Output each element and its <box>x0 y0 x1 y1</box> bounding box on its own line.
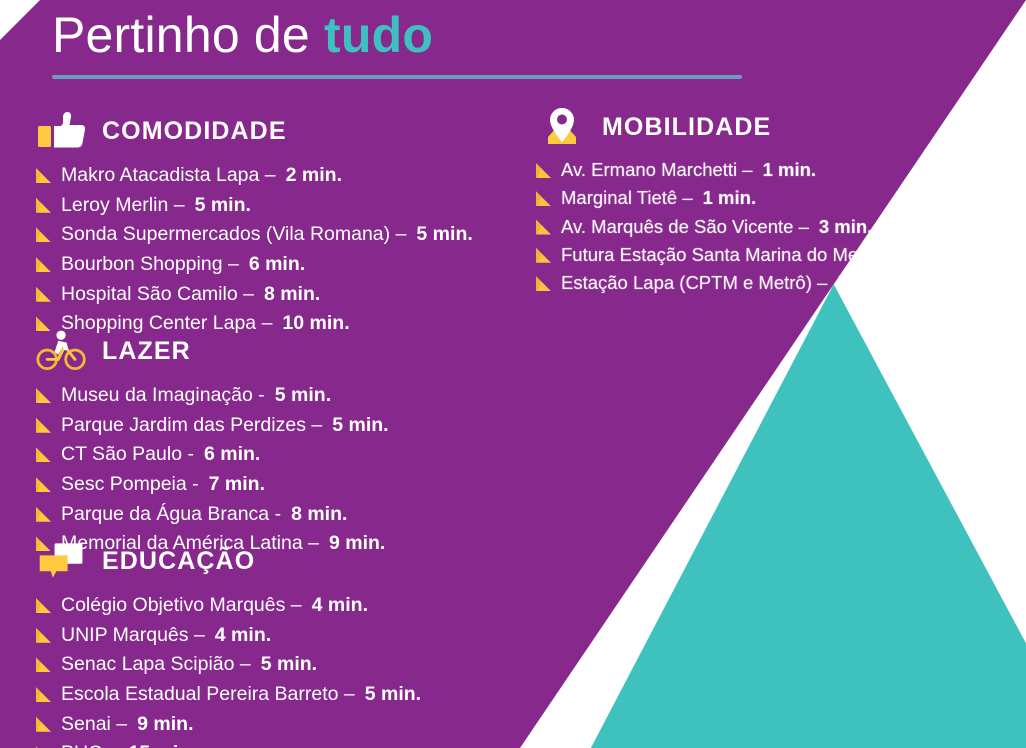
section-title-mobilidade: MOBILIDADE <box>602 113 771 142</box>
item-name: Futura Estação Santa Marina do Metrô – <box>561 242 895 268</box>
poster-content: Pertinho de tudo COMODIDADE Makro Atacad… <box>0 0 1026 748</box>
item-name: Av. Marquês de São Vicente – <box>561 214 809 240</box>
section-header-educacao: EDUCAÇÃO <box>36 538 506 584</box>
list-item: CT São Paulo - 6 min. <box>36 441 506 469</box>
bullet-triangle-icon <box>36 717 51 732</box>
speech-bubbles-icon <box>36 538 88 584</box>
thumbs-up-icon <box>36 108 88 154</box>
item-name: Escola Estadual Pereira Barreto – <box>61 681 355 709</box>
list-item: Senai – 9 min. <box>36 711 506 739</box>
item-name: Colégio Objetivo Marquês – <box>61 592 302 620</box>
item-time: 15 min. <box>128 740 195 748</box>
page-title: Pertinho de tudo <box>52 6 752 65</box>
item-time: 3 min. <box>905 242 958 268</box>
list-item: Av. Marquês de São Vicente – 3 min. <box>536 214 996 240</box>
item-time: 5 min. <box>416 221 472 249</box>
bullet-triangle-icon <box>36 477 51 492</box>
item-name: PUC – <box>61 740 118 748</box>
bullet-triangle-icon <box>36 687 51 702</box>
bullet-triangle-icon <box>36 168 51 183</box>
section-header-lazer: LAZER <box>36 328 506 374</box>
list-educacao: Colégio Objetivo Marquês – 4 min. UNIP M… <box>36 592 506 748</box>
section-header-mobilidade: MOBILIDADE <box>536 104 996 150</box>
item-name: Senai – <box>61 711 127 739</box>
list-item: Av. Ermano Marchetti – 1 min. <box>536 157 996 183</box>
item-time: 3 min. <box>819 214 872 240</box>
list-mobilidade: Av. Ermano Marchetti – 1 min. Marginal T… <box>536 157 996 296</box>
item-name: Sonda Supermercados (Vila Romana) – <box>61 221 406 249</box>
section-comodidade: COMODIDADE Makro Atacadista Lapa – 2 min… <box>36 108 506 340</box>
bullet-triangle-icon <box>536 276 551 291</box>
item-time: 2 min. <box>286 162 342 190</box>
section-title-lazer: LAZER <box>102 337 191 366</box>
item-time: 5 min. <box>195 192 251 220</box>
list-item: Colégio Objetivo Marquês – 4 min. <box>36 592 506 620</box>
item-time: 6 min. <box>249 251 305 279</box>
cyclist-icon <box>36 328 88 374</box>
list-item: Makro Atacadista Lapa – 2 min. <box>36 162 506 190</box>
item-time: 4 min. <box>312 592 368 620</box>
item-time: 5 min. <box>332 412 388 440</box>
item-time: 9 min. <box>137 711 193 739</box>
list-item: Sesc Pompeia - 7 min. <box>36 471 506 499</box>
section-mobilidade: MOBILIDADE Av. Ermano Marchetti – 1 min.… <box>536 104 996 298</box>
map-pin-icon <box>536 104 588 150</box>
list-item: UNIP Marquês – 4 min. <box>36 622 506 650</box>
item-time: 5 min. <box>365 681 421 709</box>
list-item: Senac Lapa Scipião – 5 min. <box>36 651 506 679</box>
item-time: 4 min. <box>215 622 271 650</box>
bullet-triangle-icon <box>36 257 51 272</box>
item-name: Bourbon Shopping – <box>61 251 239 279</box>
list-item: Escola Estadual Pereira Barreto – 5 min. <box>36 681 506 709</box>
item-name: Museu da Imaginação - <box>61 382 265 410</box>
item-name: Estação Lapa (CPTM e Metrô) – <box>561 270 827 296</box>
item-name: Parque Jardim das Perdizes – <box>61 412 322 440</box>
item-time: 6 min. <box>204 441 260 469</box>
item-name: Senac Lapa Scipião – <box>61 651 251 679</box>
item-name: Av. Ermano Marchetti – <box>561 157 753 183</box>
section-educacao: EDUCAÇÃO Colégio Objetivo Marquês – 4 mi… <box>36 538 506 748</box>
list-item: Hospital São Camilo – 8 min. <box>36 281 506 309</box>
poster-canvas: Pertinho de tudo COMODIDADE Makro Atacad… <box>0 0 1026 748</box>
item-name: Leroy Merlin – <box>61 192 185 220</box>
bullet-triangle-icon <box>536 163 551 178</box>
list-item: Bourbon Shopping – 6 min. <box>36 251 506 279</box>
list-item: Leroy Merlin – 5 min. <box>36 192 506 220</box>
item-time: 1 min. <box>763 157 816 183</box>
list-comodidade: Makro Atacadista Lapa – 2 min. Leroy Mer… <box>36 162 506 338</box>
item-name: Sesc Pompeia - <box>61 471 199 499</box>
title-underline <box>52 75 742 79</box>
item-name: Parque da Água Branca - <box>61 501 281 529</box>
bullet-triangle-icon <box>36 507 51 522</box>
list-item: Estação Lapa (CPTM e Metrô) – 5 min. <box>536 270 996 296</box>
bullet-triangle-icon <box>36 657 51 672</box>
title-block: Pertinho de tudo <box>52 6 752 79</box>
page-title-plain: Pertinho de <box>52 7 324 63</box>
section-title-educacao: EDUCAÇÃO <box>102 547 255 576</box>
item-name: CT São Paulo - <box>61 441 194 469</box>
item-name: UNIP Marquês – <box>61 622 205 650</box>
bullet-triangle-icon <box>36 198 51 213</box>
bullet-triangle-icon <box>536 248 551 263</box>
bullet-triangle-icon <box>536 191 551 206</box>
item-time: 8 min. <box>264 281 320 309</box>
list-item: Parque da Água Branca - 8 min. <box>36 501 506 529</box>
item-time: 5 min. <box>837 270 890 296</box>
bullet-triangle-icon <box>536 220 551 235</box>
section-header-comodidade: COMODIDADE <box>36 108 506 154</box>
item-name: Hospital São Camilo – <box>61 281 254 309</box>
bullet-triangle-icon <box>36 287 51 302</box>
bullet-triangle-icon <box>36 447 51 462</box>
list-item: Museu da Imaginação - 5 min. <box>36 382 506 410</box>
list-item: Parque Jardim das Perdizes – 5 min. <box>36 412 506 440</box>
bullet-triangle-icon <box>36 418 51 433</box>
bullet-triangle-icon <box>36 598 51 613</box>
section-lazer: LAZER Museu da Imaginação - 5 min. Parqu… <box>36 328 506 560</box>
page-title-accent: tudo <box>324 7 433 63</box>
list-lazer: Museu da Imaginação - 5 min. Parque Jard… <box>36 382 506 558</box>
item-time: 7 min. <box>209 471 265 499</box>
item-name: Makro Atacadista Lapa – <box>61 162 276 190</box>
section-title-comodidade: COMODIDADE <box>102 117 287 146</box>
item-time: 1 min. <box>703 185 756 211</box>
list-item: Marginal Tietê – 1 min. <box>536 185 996 211</box>
bullet-triangle-icon <box>36 388 51 403</box>
item-name: Marginal Tietê – <box>561 185 693 211</box>
bullet-triangle-icon <box>36 628 51 643</box>
bullet-triangle-icon <box>36 227 51 242</box>
item-time: 8 min. <box>291 501 347 529</box>
list-item: Sonda Supermercados (Vila Romana) – 5 mi… <box>36 221 506 249</box>
list-item: PUC – 15 min. <box>36 740 506 748</box>
item-time: 5 min. <box>261 651 317 679</box>
list-item: Futura Estação Santa Marina do Metrô – 3… <box>536 242 996 268</box>
item-time: 5 min. <box>275 382 331 410</box>
